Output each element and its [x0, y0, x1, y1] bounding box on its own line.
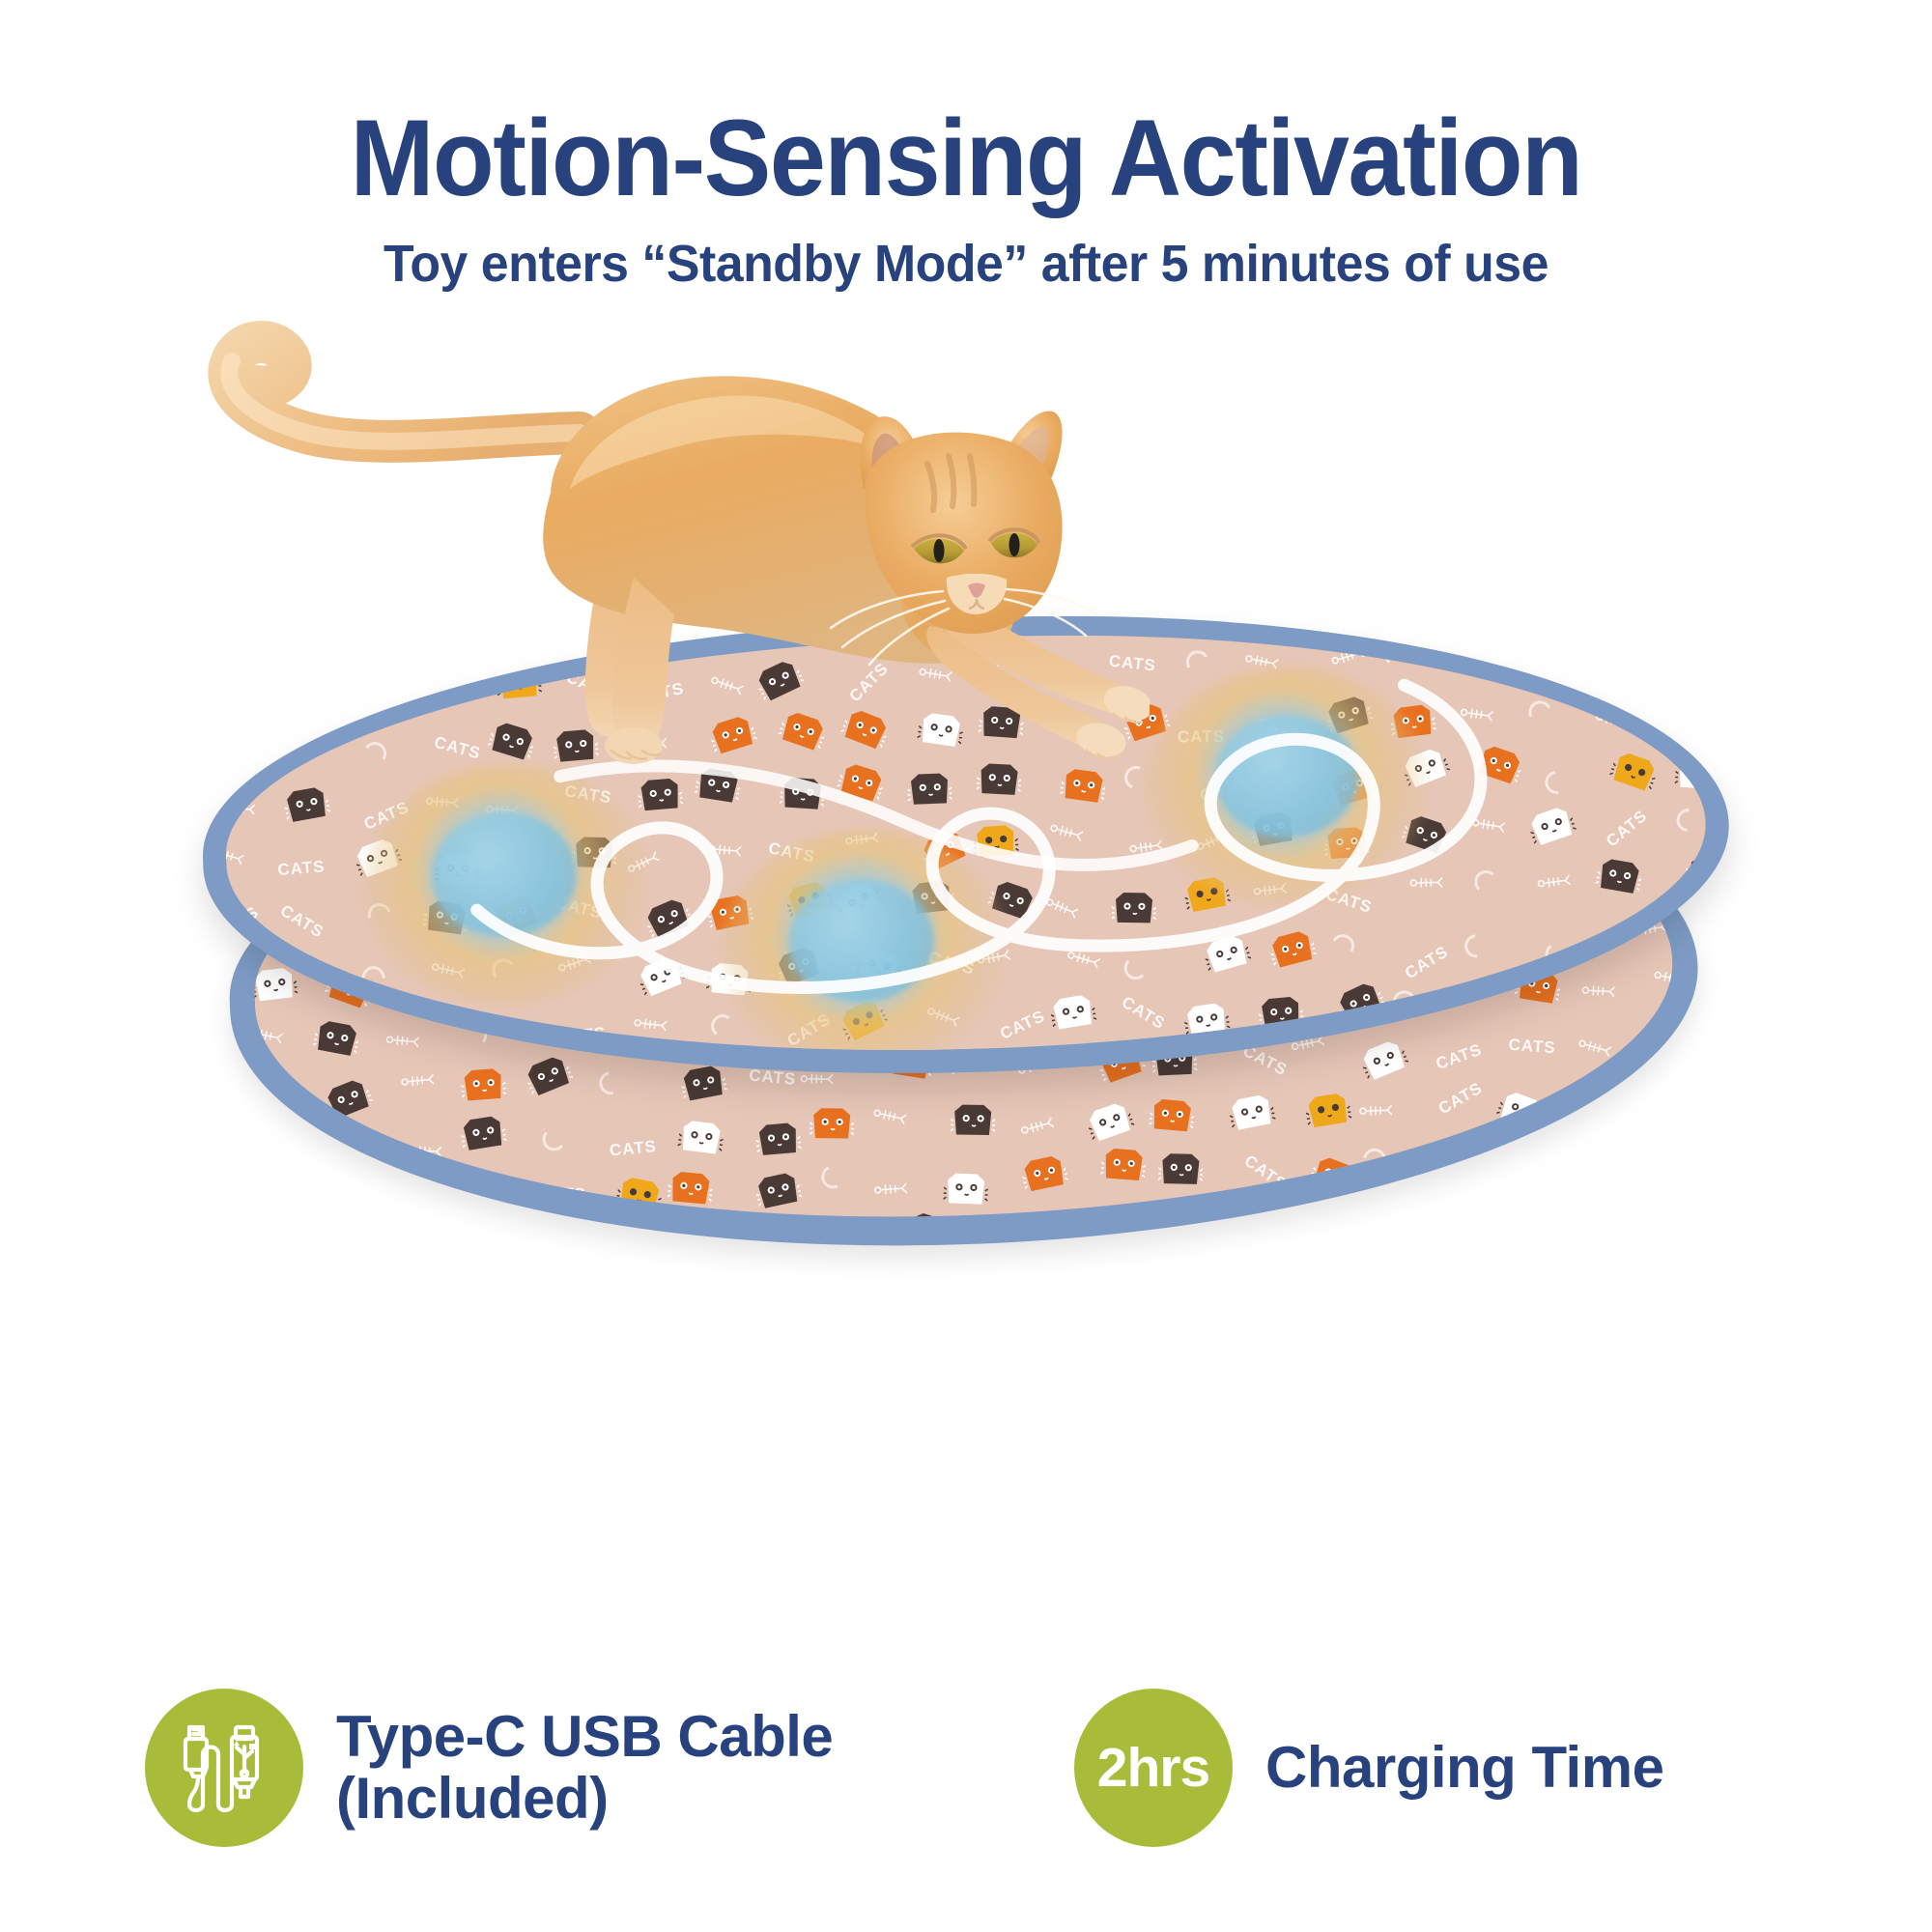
fabric-cat-face: [1157, 1151, 1204, 1196]
fabric-cats-word: CATS: [1119, 992, 1169, 1034]
fabric-cat-face: [1021, 1154, 1067, 1200]
product-scene: CATS CATS CATSCATS: [0, 319, 1932, 1604]
fabric-cat-face: [896, 1212, 943, 1242]
fabric-cats-word: CATS: [1599, 935, 1650, 966]
fabric-fishbone: [396, 1186, 430, 1206]
fabric-cat-face: [1088, 1102, 1134, 1148]
fabric-swirl: [1540, 766, 1573, 799]
fabric-fishbone: [1621, 991, 1655, 1010]
fabric-cat-face: [1399, 617, 1444, 626]
fabric-fishbone: [634, 1017, 668, 1037]
fabric-cat-face: [1648, 1199, 1682, 1242]
fabric-cat-face: [646, 899, 692, 944]
fabric-cats-word: CATS: [1602, 639, 1651, 683]
fabric-cat-face: [220, 1022, 265, 1066]
fabric-cat-face: [1497, 1092, 1544, 1137]
fabric-cat-face: [323, 1127, 369, 1173]
fabric-fishbone: [1020, 1119, 1054, 1138]
usb-cable-glyph: [172, 1716, 276, 1820]
fabric-cat-face: [1365, 1208, 1411, 1242]
fabric-fishbone: [907, 1061, 941, 1069]
fabric-fishbone: [1331, 649, 1365, 668]
kitten-photo: [164, 319, 1150, 860]
fabric-swirl: [595, 1066, 627, 1098]
fabric-cat-face: [1661, 1240, 1681, 1242]
fabric-swirl: [1460, 930, 1492, 963]
fabric-fishbone: [1045, 899, 1079, 919]
fabric-fishbone: [409, 1144, 442, 1163]
fabric-cat-face: [1184, 1002, 1230, 1046]
fabric-cat-face: [526, 1056, 572, 1101]
fabric-swirl: [1649, 1092, 1672, 1115]
fabric-cat-face: [300, 969, 346, 1013]
fabric-cat-face: [1597, 858, 1642, 902]
fabric-swirl: [357, 1016, 388, 1047]
fabric-fishbone: [1358, 1103, 1392, 1122]
fabric-cat-face: [461, 1066, 507, 1112]
fabric-swirl: [1358, 1145, 1390, 1177]
fabric-cat-face: [550, 1231, 596, 1242]
fabric-fishbone: [598, 1239, 632, 1242]
fabric-cat-face: [639, 957, 684, 1002]
fabric-swirl: [818, 1162, 847, 1191]
fabric-cat-face: [1314, 1201, 1360, 1242]
fabric-cats-word: CATS: [1640, 1140, 1681, 1163]
fabric-cat-face: [1338, 983, 1383, 1028]
charging-time-badge: 2hrs: [1074, 1689, 1233, 1847]
fabric-cats-word: CATS: [1606, 617, 1657, 629]
page-title: Motion-Sensing Activation: [68, 104, 1864, 213]
fabric-fishbone: [1536, 1002, 1570, 1021]
fabric-fishbone: [1448, 1142, 1482, 1161]
fabric-swirl: [1474, 870, 1497, 894]
fabric-cat-face: [616, 1176, 663, 1221]
fabric-cat-face: [1183, 617, 1229, 628]
fabric-cat-face: [1685, 856, 1712, 900]
fabric-swirl: [1329, 932, 1357, 960]
fabric-swirl: [710, 1013, 736, 1039]
fabric-cat-face: [1259, 995, 1304, 1039]
fabric-cat-face: [1582, 1132, 1629, 1178]
fabric-swirl: [357, 961, 390, 994]
fabric-cat-face: [753, 1225, 799, 1242]
fabric-cat-face: [809, 1104, 855, 1150]
fabric-fishbone: [252, 1137, 286, 1156]
fabric-cat-face: [1334, 617, 1379, 623]
fabric-cats-word: CATS: [1023, 1230, 1072, 1242]
fabric-fishbone: [1537, 875, 1571, 895]
fabric-cat-face: [1575, 1088, 1621, 1133]
fabric-cat-face: [1674, 975, 1711, 1019]
fabric-fishbone: [1409, 875, 1443, 895]
fabric-swirl: [1672, 804, 1705, 837]
fabric-cats-word: CATS: [823, 1227, 871, 1242]
fabric-cat-face: [943, 1170, 989, 1215]
fabric-cats-word: CATS: [493, 1018, 543, 1060]
fabric-cat-face: [1270, 930, 1316, 975]
fabric-fishbone: [800, 1071, 834, 1091]
fabric-cat-face: [394, 1235, 440, 1242]
usb-cable-icon: [145, 1689, 303, 1847]
fabric-cat-face: [325, 1187, 371, 1233]
fabric-cats-word: CATS: [998, 1007, 1049, 1044]
fabric-cat-face: [1050, 993, 1095, 1037]
fabric-fishbone: [1681, 648, 1712, 668]
fabric-cat-face: [1674, 918, 1712, 962]
fabric-cat-face: [1523, 642, 1569, 687]
fabric-swirl: [1124, 956, 1149, 980]
fabric-cats-word: CATS: [220, 968, 259, 992]
fabric-fishbone: [401, 1073, 435, 1093]
fabric-cat-face: [1476, 746, 1521, 790]
fabric-fishbone: [1458, 642, 1492, 662]
fabric-cats-word: CATS: [276, 901, 327, 943]
fabric-cats-word: CATS: [609, 1137, 658, 1161]
fabric-cat-face: [755, 1121, 802, 1166]
fabric-fishbone: [1161, 1221, 1195, 1240]
fabric-cat-face: [1529, 807, 1575, 851]
fabric-cats-word: CATS: [1402, 942, 1452, 983]
kitten-tail: [229, 342, 580, 441]
fabric-swirl: [1385, 644, 1408, 668]
fabric-fishbone: [1460, 706, 1493, 725]
fabric-cats-word: CATS: [255, 1079, 305, 1107]
fabric-cat-face: [755, 1172, 802, 1217]
fabric-cats-word: CATS: [1508, 1035, 1556, 1058]
fabric-cats-word: CATS: [1516, 1207, 1567, 1242]
fabric-cat-face: [1611, 753, 1657, 797]
page-subtitle: Toy enters “Standby Mode” after 5 minute…: [39, 238, 1893, 290]
fabric-swirl: [1536, 617, 1569, 626]
fabric-cat-face: [1362, 1041, 1408, 1087]
fabric-cats-word: CATS: [1434, 1040, 1485, 1074]
header: Motion-Sensing Activation Toy enters “St…: [0, 0, 1932, 290]
fabric-cats-word: CATS: [557, 1024, 607, 1048]
fabric-swirl: [541, 1126, 566, 1151]
fabric-cat-face: [1001, 1059, 1046, 1069]
charging-time-value: 2hrs: [1097, 1736, 1209, 1800]
fabric-fishbone: [1509, 1142, 1543, 1161]
fabric-cats-word: CATS: [685, 1236, 736, 1242]
fabric-swirl: [1525, 697, 1555, 727]
fabric-cat-face: [668, 1169, 714, 1214]
fabric-swirl: [1184, 648, 1212, 676]
kitten-hind-paw: [605, 727, 663, 764]
fabric-cat-face: [1100, 1146, 1147, 1191]
fabric-cat-face: [1589, 1196, 1635, 1241]
fabric-cat-face: [461, 1115, 507, 1160]
fabric-cat-face: [326, 1080, 372, 1125]
fabric-fishbone: [873, 1109, 907, 1128]
fabric-cats-word: CATS: [538, 1183, 586, 1205]
fabric-cat-face: [1111, 890, 1156, 934]
kitten-illustration: [164, 319, 1150, 860]
feature-usb-cable: Type-C USB Cable (Included): [145, 1689, 833, 1847]
fabric-fishbone: [1066, 952, 1100, 971]
fabric-cats-word: CATS: [1435, 1079, 1486, 1120]
fabric-cat-face: [1204, 935, 1249, 980]
fabric-cat-face: [270, 1184, 316, 1230]
fabric-cat-face: [952, 1216, 999, 1242]
fabric-cat-face: [950, 1101, 996, 1147]
fabric-cat-face: [1305, 1091, 1351, 1136]
fabric-fishbone: [1471, 818, 1505, 838]
fabric-cat-face: [1675, 754, 1712, 799]
fabric-cats-word: CATS: [277, 857, 326, 880]
fabric-cat-face: [1150, 1096, 1196, 1142]
fabric-fishbone: [1672, 710, 1706, 729]
fabric-fishbone: [1445, 1200, 1479, 1219]
feature-badges: Type-C USB Cable (Included) 2hrs Chargin…: [0, 1669, 1932, 1920]
fabric-cat-face: [681, 1064, 727, 1109]
fabric-fishbone: [1577, 1040, 1611, 1060]
fabric-cat-face: [1229, 1094, 1275, 1139]
fabric-cats-word: CATS: [1240, 1151, 1291, 1194]
fabric-fishbone: [1481, 1004, 1515, 1023]
fabric-cat-face: [477, 1172, 524, 1217]
feature-charging-time: 2hrs Charging Time: [1074, 1689, 1663, 1847]
fabric-fishbone: [1595, 713, 1629, 732]
fabric-cat-face: [678, 1119, 724, 1164]
fabric-cat-face: [296, 1019, 341, 1064]
fabric-cats-word: CATS: [220, 903, 262, 947]
feature-charging-label: Charging Time: [1265, 1737, 1663, 1799]
feature-usb-label: Type-C USB Cable (Included): [336, 1706, 833, 1829]
fabric-swirl: [1544, 941, 1571, 968]
fabric-fishbone: [874, 1181, 908, 1201]
infographic-page: Motion-Sensing Activation Toy enters “St…: [0, 0, 1932, 1932]
fabric-fishbone: [427, 1036, 461, 1055]
fabric-cat-face: [1310, 1156, 1356, 1202]
fabric-cats-word: CATS: [1603, 806, 1651, 851]
fabric-cat-face: [1098, 1214, 1145, 1242]
fabric-cat-face: [1246, 1209, 1293, 1242]
fabric-swirl: [1391, 988, 1418, 1015]
